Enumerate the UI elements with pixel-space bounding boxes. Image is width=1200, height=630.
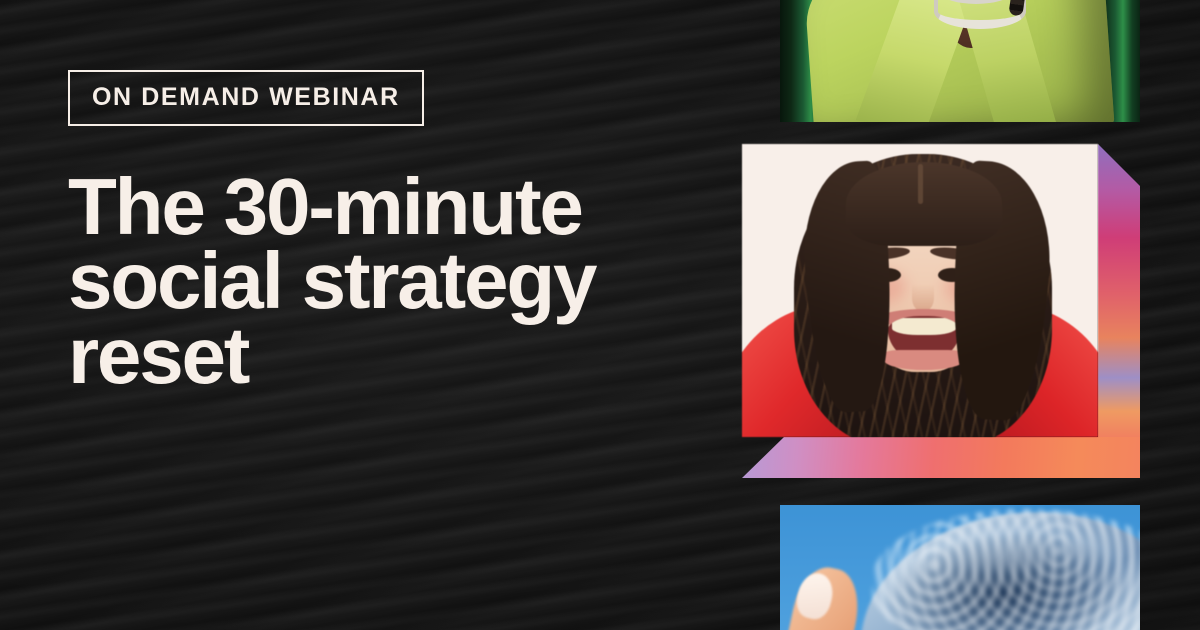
hair-crown (846, 162, 1002, 246)
teeth (892, 318, 956, 335)
hair-part (918, 164, 923, 204)
photo-featured-speaker (742, 144, 1098, 437)
hero-text-column: ON DEMAND WEBINAR The 30-minute social s… (68, 70, 708, 393)
hero-headline: The 30-minute social strategy reset (68, 170, 678, 393)
nose (912, 284, 934, 312)
webinar-hero-banner: ON DEMAND WEBINAR The 30-minute social s… (0, 0, 1200, 630)
lower-lip (884, 350, 964, 370)
extrusion-right-face (1098, 144, 1140, 478)
on-demand-webinar-badge: ON DEMAND WEBINAR (68, 70, 424, 126)
photo-blue-hat (780, 505, 1140, 630)
extrusion-bottom-face (742, 437, 1140, 478)
photo-green-jacket (780, 0, 1140, 122)
